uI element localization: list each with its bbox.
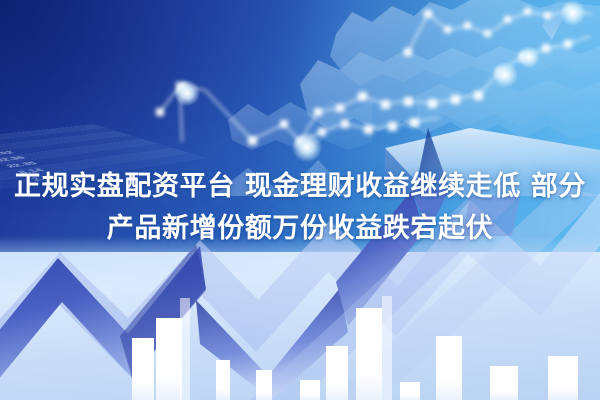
banner-title: 正规实盘配资平台 现金理财收益继续走低 部分 产品新增份额万份收益跌宕起伏 bbox=[0, 166, 600, 250]
title-line-1: 正规实盘配资平台 现金理财收益继续走低 部分 bbox=[14, 166, 586, 208]
title-line-2: 产品新增份额万份收益跌宕起伏 bbox=[14, 208, 586, 250]
news-banner-image: -02.36-50.02+45.0221.06-11.25-02.36-50.0… bbox=[0, 0, 600, 400]
